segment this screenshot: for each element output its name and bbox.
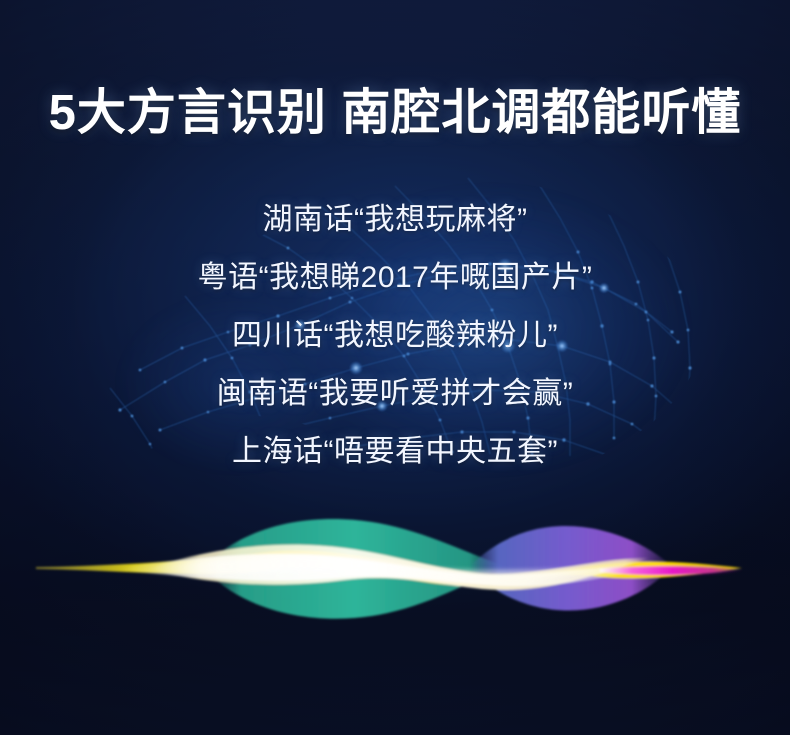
- list-item: 湖南话“我想玩麻将”: [0, 205, 790, 235]
- dialect-list: 湖南话“我想玩麻将” 粤语“我想睇2017年嘅国产片” 四川话“我想吃酸辣粉儿”…: [0, 205, 790, 467]
- list-item: 上海话“唔要看中央五套”: [0, 437, 790, 467]
- voice-waveform: [0, 500, 790, 645]
- poster-canvas: 5大方言识别 南腔北调都能听懂 湖南话“我想玩麻将” 粤语“我想睇2017年嘅国…: [0, 0, 790, 735]
- list-item: 四川话“我想吃酸辣粉儿”: [0, 321, 790, 351]
- list-item: 闽南语“我要听爱拼才会赢”: [0, 379, 790, 409]
- page-title: 5大方言识别 南腔北调都能听懂: [0, 88, 790, 139]
- list-item: 粤语“我想睇2017年嘅国产片”: [0, 263, 790, 293]
